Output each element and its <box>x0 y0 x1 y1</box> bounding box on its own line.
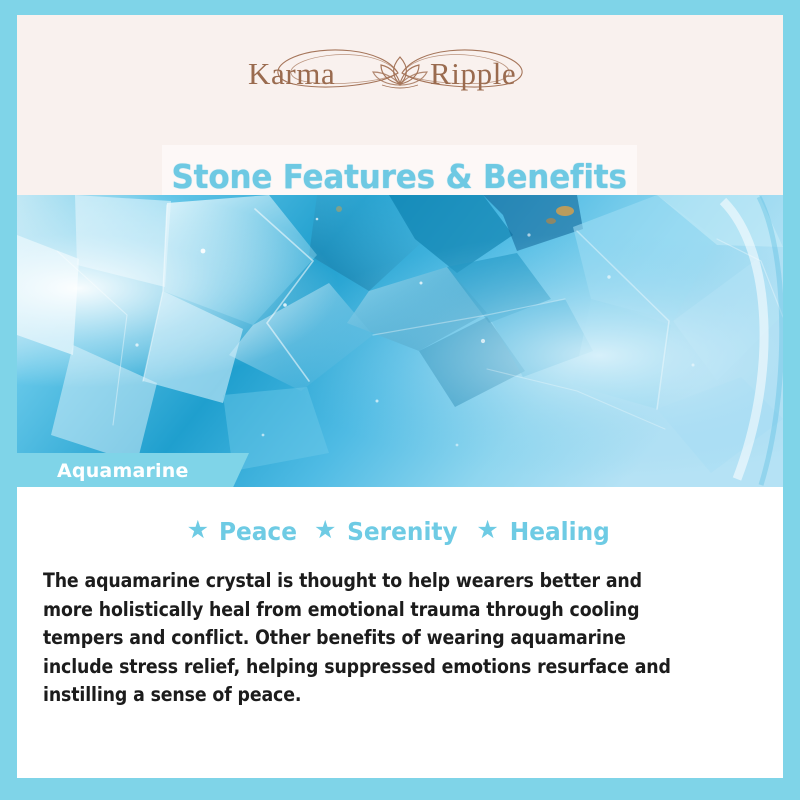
star-icon: ★ <box>187 518 209 543</box>
infographic-canvas: Karma Ripple Stone Features & Benefits <box>0 0 800 800</box>
keyword-item-peace: ★ Peace <box>187 519 300 544</box>
keyword-label: Healing <box>510 519 610 544</box>
crystal-texture-artwork <box>17 195 783 487</box>
brand-logo[interactable]: Karma Ripple <box>17 37 783 117</box>
aquamarine-crystal-image <box>17 195 783 487</box>
brand-logo-artwork: Karma Ripple <box>230 37 570 109</box>
stone-name-label: Aquamarine <box>57 460 189 482</box>
keyword-label: Peace <box>219 519 297 544</box>
benefits-section: ★ Peace ★ Serenity ★ Healing The aquamar… <box>17 487 783 778</box>
lotus-flower-icon <box>373 57 427 88</box>
star-icon: ★ <box>476 518 498 543</box>
page-surface: Karma Ripple Stone Features & Benefits <box>17 15 783 778</box>
page-title: Stone Features & Benefits <box>172 157 627 196</box>
brand-name-right: Ripple <box>430 56 516 91</box>
stone-name-banner: Aquamarine <box>17 453 249 488</box>
benefits-description: The aquamarine crystal is thought to hel… <box>43 567 693 710</box>
keyword-label: Serenity <box>348 519 459 544</box>
brand-name-left: Karma <box>248 56 335 91</box>
star-icon: ★ <box>314 518 336 543</box>
keyword-list: ★ Peace ★ Serenity ★ Healing <box>17 519 783 544</box>
keyword-item-healing: ★ Healing <box>462 519 613 544</box>
keyword-item-serenity: ★ Serenity <box>300 519 462 544</box>
